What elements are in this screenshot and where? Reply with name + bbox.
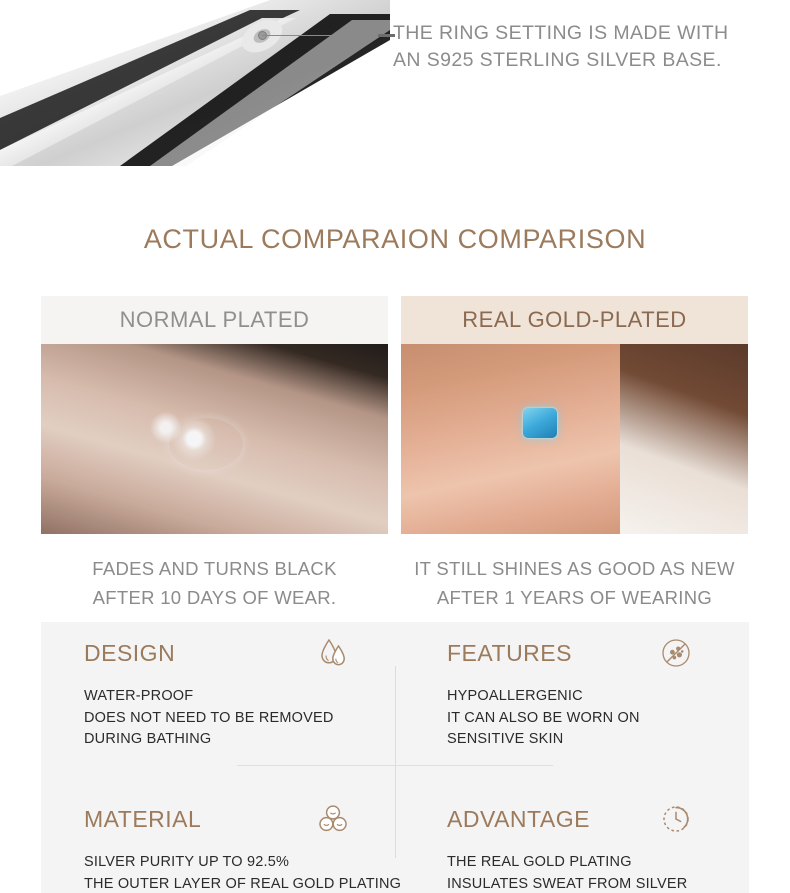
comparison-caption-gold: IT STILL SHINES AS GOOD AS NEW AFTER 1 Y… xyxy=(401,534,748,612)
features-panel: DESIGN WATER-PROOF DOES NOT NEED TO BE R… xyxy=(41,622,749,893)
features-horizontal-divider xyxy=(237,765,553,766)
water-drop-icon xyxy=(316,636,350,670)
feature-cell-design: DESIGN WATER-PROOF DOES NOT NEED TO BE R… xyxy=(84,640,414,751)
feature-title-design: DESIGN xyxy=(84,640,414,667)
hero-callout: THE RING SETTING IS MADE WITH AN S925 ST… xyxy=(393,20,773,74)
hero-annotation-text: THE RING SETTING IS MADE WITH AN S925 ST… xyxy=(393,20,773,74)
feature-body-features: HYPOALLERGENIC IT CAN ALSO BE WORN ON SE… xyxy=(447,686,749,751)
feature-title-features: FEATURES xyxy=(447,640,749,667)
ring-band-closeup-illustration xyxy=(0,0,390,166)
section-title: ACTUAL COMPARAION COMPARISON xyxy=(0,224,790,255)
product-detail-page: THE RING SETTING IS MADE WITH AN S925 ST… xyxy=(0,0,790,893)
feature-title-material: MATERIAL xyxy=(84,806,414,833)
callout-leader-line xyxy=(262,35,394,36)
normal-plated-ring-photo xyxy=(41,344,388,534)
feature-cell-material: MATERIAL SILVER PURITY UP TO 92.5% THE O… xyxy=(84,806,414,893)
hero-product-image xyxy=(0,0,390,166)
comparison-column-normal: NORMAL PLATED FADES AND TURNS BLACK AFTE… xyxy=(41,296,388,608)
feature-cell-advantage: ADVANTAGE THE REAL GOLD PLATING INSULATE… xyxy=(447,806,749,893)
comparison-photo-gold xyxy=(401,344,748,534)
comparison-header-normal: NORMAL PLATED xyxy=(41,296,388,344)
feature-body-material: SILVER PURITY UP TO 92.5% THE OUTER LAYE… xyxy=(84,852,414,893)
feature-head-features: FEATURES xyxy=(447,640,749,680)
comparison-column-gold: REAL GOLD-PLATED IT STILL SHINES AS GOOD… xyxy=(401,296,748,608)
comparison-caption-normal: FADES AND TURNS BLACK AFTER 10 DAYS OF W… xyxy=(41,534,388,612)
comparison-photo-normal xyxy=(41,344,388,534)
feature-body-advantage: THE REAL GOLD PLATING INSULATES SWEAT FR… xyxy=(447,852,749,893)
comparison-section: NORMAL PLATED FADES AND TURNS BLACK AFTE… xyxy=(41,296,749,608)
feature-head-design: DESIGN xyxy=(84,640,414,680)
feature-cell-features: FEATURES HYPOALLERGENIC IT CAN ALSO BE W… xyxy=(447,640,749,751)
comparison-header-gold: REAL GOLD-PLATED xyxy=(401,296,748,344)
no-allergens-icon xyxy=(659,636,693,670)
feature-head-advantage: ADVANTAGE xyxy=(447,806,749,846)
feature-title-advantage: ADVANTAGE xyxy=(447,806,749,833)
clock-icon xyxy=(659,802,693,836)
feature-body-design: WATER-PROOF DOES NOT NEED TO BE REMOVED … xyxy=(84,686,414,751)
feature-head-material: MATERIAL xyxy=(84,806,414,846)
three-circles-icon xyxy=(316,802,350,836)
real-gold-plated-ring-photo xyxy=(401,344,748,534)
